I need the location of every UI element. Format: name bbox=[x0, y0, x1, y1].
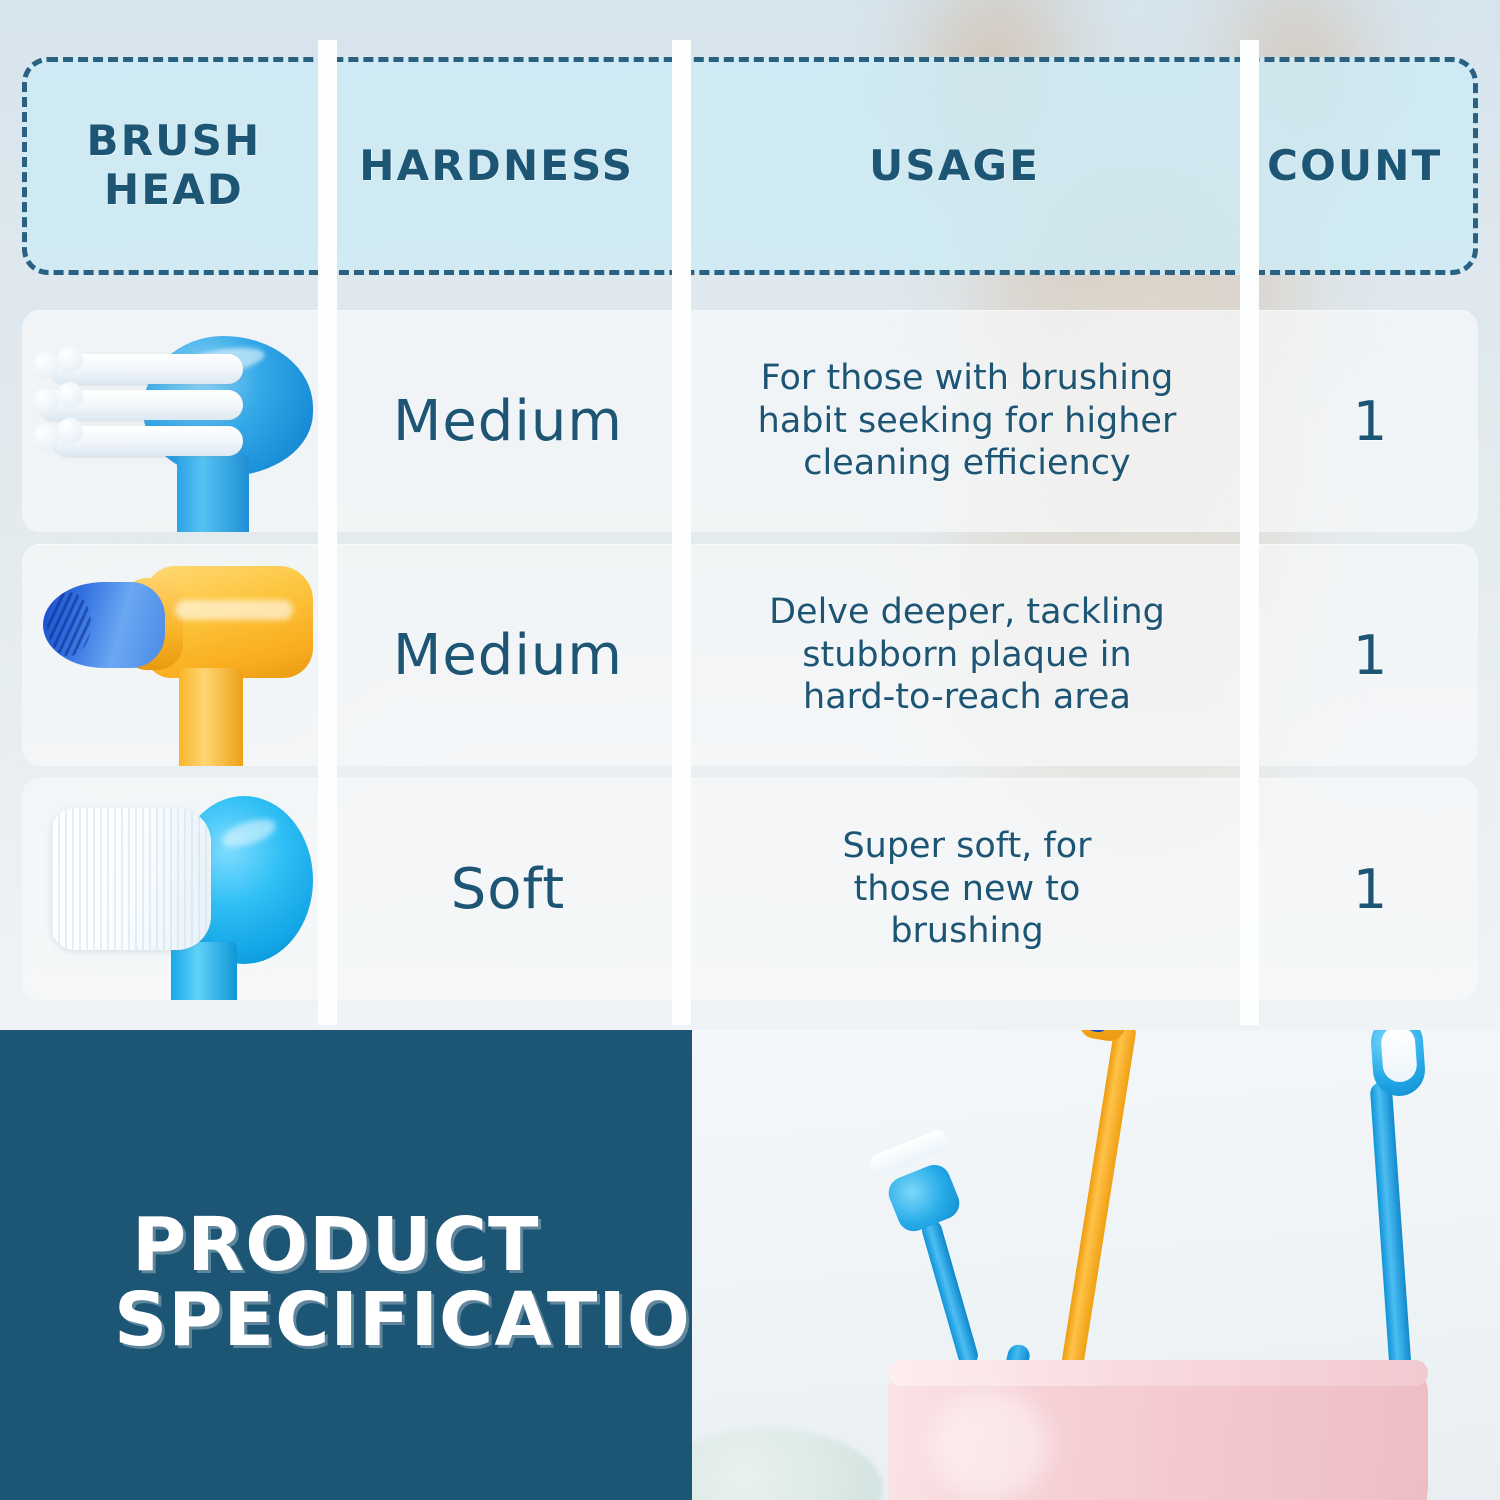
toothbrush-cup-rim bbox=[888, 1360, 1428, 1386]
soap-blob bbox=[692, 1428, 882, 1500]
count-value: 1 bbox=[1353, 624, 1387, 687]
hardness-value: Medium bbox=[393, 623, 623, 688]
usage-value: For those with brushing habit seeking fo… bbox=[746, 357, 1189, 485]
column-header-brush-head-label: BRUSHHEAD bbox=[87, 117, 262, 214]
count-cell: 1 bbox=[1262, 778, 1478, 1000]
soft-white-bristle-cyan-head-icon bbox=[25, 782, 315, 997]
count-value: 1 bbox=[1353, 858, 1387, 921]
column-divider bbox=[1240, 40, 1259, 1025]
cup-highlight bbox=[930, 1390, 1050, 1500]
count-cell: 1 bbox=[1262, 310, 1478, 532]
column-divider bbox=[318, 40, 337, 1025]
conical-blue-bristle-yellow-head-icon bbox=[25, 548, 315, 763]
brush-head-cell bbox=[22, 544, 318, 766]
usage-cell: Delve deeper, tackling stubborn plaque i… bbox=[694, 544, 1240, 766]
banner-title-line2: SPECIFICATION bbox=[114, 1283, 692, 1358]
usage-value: Delve deeper, tackling stubborn plaque i… bbox=[757, 591, 1177, 719]
column-header-brush-head: BRUSHHEAD bbox=[27, 62, 321, 270]
brush-head-cell bbox=[22, 778, 318, 1000]
banner-title-line1: PRODUCT bbox=[132, 1202, 539, 1288]
brush-head-cell bbox=[22, 310, 318, 532]
table-row: Medium For those with brushing habit see… bbox=[22, 310, 1478, 532]
column-header-hardness: HARDNESS bbox=[321, 62, 673, 270]
column-header-hardness-label: HARDNESS bbox=[359, 142, 634, 191]
hardness-cell: Medium bbox=[340, 544, 676, 766]
count-value: 1 bbox=[1353, 390, 1387, 453]
specification-table-section: BRUSHHEAD HARDNESS USAGE COUNT bbox=[0, 0, 1500, 1030]
hardness-value: Medium bbox=[393, 389, 623, 454]
hardness-cell: Medium bbox=[340, 310, 676, 532]
column-header-count: COUNT bbox=[1237, 62, 1473, 270]
banner-title: PRODUCT SPECIFICATION bbox=[132, 1208, 692, 1359]
flat-white-bristle-blue-head-icon bbox=[25, 314, 315, 529]
usage-cell: For those with brushing habit seeking fo… bbox=[694, 310, 1240, 532]
column-header-usage-label: USAGE bbox=[869, 142, 1040, 191]
title-panel: PRODUCT SPECIFICATION bbox=[0, 1030, 692, 1500]
column-header-usage: USAGE bbox=[673, 62, 1237, 270]
hardness-value: Soft bbox=[451, 857, 566, 922]
table-row: Soft Super soft, for those new to brushi… bbox=[22, 778, 1478, 1000]
hardness-cell: Soft bbox=[340, 778, 676, 1000]
count-cell: 1 bbox=[1262, 544, 1478, 766]
product-specification-banner: PRODUCT SPECIFICATION bbox=[0, 1030, 1500, 1500]
column-header-count-label: COUNT bbox=[1267, 142, 1442, 191]
column-divider bbox=[672, 40, 691, 1025]
table-header-row: BRUSHHEAD HARDNESS USAGE COUNT bbox=[22, 57, 1478, 275]
usage-cell: Super soft, for those new to brushing bbox=[694, 778, 1240, 1000]
table-row: Medium Delve deeper, tackling stubborn p… bbox=[22, 544, 1478, 766]
usage-value: Super soft, for those new to brushing bbox=[830, 825, 1103, 953]
product-photo bbox=[692, 1030, 1500, 1500]
